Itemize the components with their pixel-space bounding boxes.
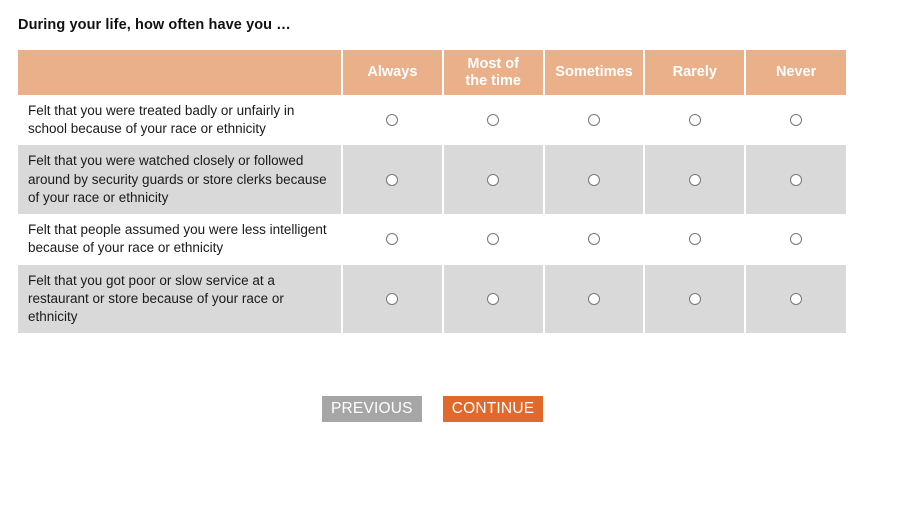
column-header-rarely-label: Rarely xyxy=(673,64,717,80)
table-row: Felt that you were watched closely or fo… xyxy=(18,145,846,214)
radio-cell-row4-sometimes[interactable] xyxy=(544,265,645,334)
radio-cell-row2-never[interactable] xyxy=(745,145,846,214)
survey-page: During your life, how often have you … A… xyxy=(0,0,898,524)
column-header-rarely: Rarely xyxy=(644,50,745,95)
row-label-poor-slow-service: Felt that you got poor or slow service a… xyxy=(18,265,342,334)
radio-button[interactable] xyxy=(487,174,499,186)
radio-cell-row3-never[interactable] xyxy=(745,214,846,264)
radio-cell-row4-most-of-the-time[interactable] xyxy=(443,265,544,334)
column-header-most-of-the-time: Most ofthe time xyxy=(443,50,544,95)
radio-cell-row2-sometimes[interactable] xyxy=(544,145,645,214)
radio-button[interactable] xyxy=(386,174,398,186)
page-title: During your life, how often have you … xyxy=(18,17,291,33)
radio-cell-row1-rarely[interactable] xyxy=(644,95,745,145)
radio-button[interactable] xyxy=(588,174,600,186)
radio-button[interactable] xyxy=(386,293,398,305)
radio-button[interactable] xyxy=(386,114,398,126)
radio-button[interactable] xyxy=(689,293,701,305)
radio-cell-row4-rarely[interactable] xyxy=(644,265,745,334)
survey-matrix-table: Always Most ofthe time Sometimes Rarely … xyxy=(18,50,846,333)
row-label-watched-closely-followed: Felt that you were watched closely or fo… xyxy=(18,145,342,214)
radio-cell-row4-always[interactable] xyxy=(342,265,443,334)
table-header-row: Always Most ofthe time Sometimes Rarely … xyxy=(18,50,846,95)
radio-cell-row3-sometimes[interactable] xyxy=(544,214,645,264)
row-label-assumed-less-intelligent: Felt that people assumed you were less i… xyxy=(18,214,342,264)
radio-button[interactable] xyxy=(487,114,499,126)
radio-button[interactable] xyxy=(689,233,701,245)
radio-cell-row3-rarely[interactable] xyxy=(644,214,745,264)
radio-button[interactable] xyxy=(588,114,600,126)
radio-cell-row2-always[interactable] xyxy=(342,145,443,214)
column-header-never-label: Never xyxy=(776,64,816,80)
radio-button[interactable] xyxy=(790,233,802,245)
radio-cell-row4-never[interactable] xyxy=(745,265,846,334)
radio-cell-row3-most-of-the-time[interactable] xyxy=(443,214,544,264)
radio-button[interactable] xyxy=(487,233,499,245)
radio-cell-row1-always[interactable] xyxy=(342,95,443,145)
radio-button[interactable] xyxy=(487,293,499,305)
radio-button[interactable] xyxy=(689,114,701,126)
radio-cell-row1-never[interactable] xyxy=(745,95,846,145)
radio-cell-row1-sometimes[interactable] xyxy=(544,95,645,145)
radio-cell-row1-most-of-the-time[interactable] xyxy=(443,95,544,145)
column-header-statement xyxy=(18,50,342,95)
table-row: Felt that people assumed you were less i… xyxy=(18,214,846,264)
radio-button[interactable] xyxy=(588,293,600,305)
continue-button[interactable]: CONTINUE xyxy=(443,396,544,422)
radio-button[interactable] xyxy=(790,114,802,126)
column-header-never: Never xyxy=(745,50,846,95)
column-header-sometimes-label: Sometimes xyxy=(555,64,632,80)
radio-cell-row2-most-of-the-time[interactable] xyxy=(443,145,544,214)
radio-button[interactable] xyxy=(790,174,802,186)
column-header-most-of-the-time-label: Most ofthe time xyxy=(465,56,521,89)
radio-cell-row3-always[interactable] xyxy=(342,214,443,264)
table-row: Felt that you were treated badly or unfa… xyxy=(18,95,846,145)
radio-button[interactable] xyxy=(689,174,701,186)
column-header-always-label: Always xyxy=(367,64,417,80)
column-header-sometimes: Sometimes xyxy=(544,50,645,95)
row-label-treated-badly-in-school: Felt that you were treated badly or unfa… xyxy=(18,95,342,145)
table-row: Felt that you got poor or slow service a… xyxy=(18,265,846,334)
navigation-button-bar: PREVIOUS CONTINUE xyxy=(322,396,543,422)
column-header-always: Always xyxy=(342,50,443,95)
radio-button[interactable] xyxy=(790,293,802,305)
radio-button[interactable] xyxy=(588,233,600,245)
radio-button[interactable] xyxy=(386,233,398,245)
previous-button[interactable]: PREVIOUS xyxy=(322,396,422,422)
radio-cell-row2-rarely[interactable] xyxy=(644,145,745,214)
